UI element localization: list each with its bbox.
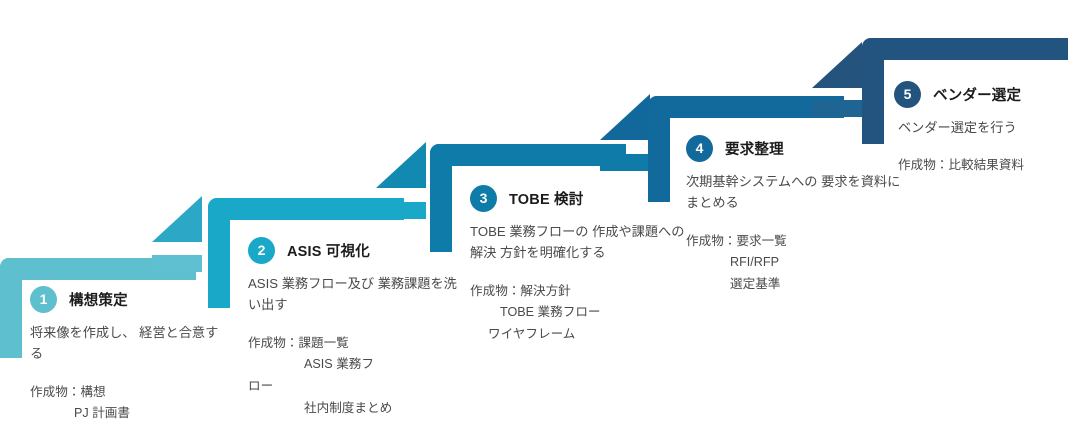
step-number-badge-5: 5 [894, 81, 921, 108]
deliverable-line: 選定基準 [730, 274, 780, 296]
bracket-stem [862, 38, 884, 144]
step-title-4: 要求整理 [725, 138, 784, 159]
process-step-5[interactable]: 5 ベンダー選定 ベンダー選定を行う 作成物：比較結果資料 [862, 38, 1082, 238]
deliverable-line: ロー [248, 379, 273, 393]
process-step-1[interactable]: 1 構想策定 将来像を作成し、 経営と合意する 作成物：構想PJ 計画書 [0, 258, 230, 448]
bracket-bar [0, 258, 196, 280]
bracket-bar [862, 38, 1068, 60]
process-step-2[interactable]: 2 ASIS 可視化 ASIS 業務フロー及び 業務課題を洗い出す 作成物：課題… [208, 198, 448, 448]
step-description-1: 将来像を作成し、 経営と合意する [30, 322, 230, 365]
step-number-badge-3: 3 [470, 185, 497, 212]
deliverable-line: ワイヤフレーム [488, 324, 575, 346]
bracket-bar [648, 96, 844, 118]
step-content-1: 1 構想策定 将来像を作成し、 経営と合意する 作成物：構想PJ 計画書 [30, 285, 230, 425]
deliverable-line: ASIS 業務フ [304, 354, 374, 376]
process-step-3[interactable]: 3 TOBE 検討 TOBE 業務フローの 作成や課題への解決 方針を明確化する… [430, 144, 675, 414]
deliverable-line: 作成物：要求一覧 [686, 234, 787, 248]
step-content-5: 5 ベンダー選定 ベンダー選定を行う 作成物：比較結果資料 [894, 80, 1082, 177]
deliverable-line: PJ 計画書 [74, 403, 130, 425]
arrow-head-icon [152, 196, 202, 242]
step-title-row-1: 1 構想策定 [30, 285, 230, 313]
deliverable-line: 作成物：比較結果資料 [898, 158, 1024, 172]
step-deliverables-1: 作成物：構想PJ 計画書 [30, 382, 230, 425]
deliverable-line: TOBE 業務フロー [500, 302, 601, 324]
deliverable-line: 作成物：解決方針 [470, 284, 571, 298]
step-deliverables-2: 作成物：課題一覧ASIS 業務フロー社内制度まとめ [248, 333, 458, 420]
bracket-stem [648, 96, 670, 202]
step-content-2: 2 ASIS 可視化 ASIS 業務フロー及び 業務課題を洗い出す 作成物：課題… [248, 236, 458, 419]
step-deliverables-5: 作成物：比較結果資料 [898, 155, 1082, 177]
process-step-4[interactable]: 4 要求整理 次期基幹システムへの 要求を資料にまとめる 作成物：要求一覧RFI… [648, 96, 893, 356]
step-title-5: ベンダー選定 [933, 84, 1021, 105]
step-number-badge-4: 4 [686, 135, 713, 162]
step-number-badge-2: 2 [248, 237, 275, 264]
deliverable-line: 作成物：課題一覧 [248, 336, 349, 350]
deliverable-line: 作成物：構想 [30, 385, 106, 399]
step-deliverables-4: 作成物：要求一覧RFI/RFP選定基準 [686, 231, 904, 296]
arrow-head-icon [376, 142, 426, 188]
bracket-stem [430, 144, 452, 252]
step-description-2: ASIS 業務フロー及び 業務課題を洗い出す [248, 273, 458, 316]
bracket-bar [208, 198, 404, 220]
step-title-row-5: 5 ベンダー選定 [894, 80, 1082, 108]
step-title-1: 構想策定 [69, 289, 128, 310]
bracket-stem [208, 198, 230, 308]
deliverable-line: RFI/RFP [730, 252, 779, 274]
arrow-head-icon [600, 94, 650, 140]
bracket-stem [0, 258, 22, 358]
step-number-badge-1: 1 [30, 286, 57, 313]
deliverable-line: 社内制度まとめ [304, 398, 392, 420]
arrow-head-icon [812, 42, 862, 88]
step-title-row-2: 2 ASIS 可視化 [248, 236, 458, 264]
step-description-5: ベンダー選定を行う [898, 117, 1082, 138]
step-title-3: TOBE 検討 [509, 188, 583, 209]
bracket-bar [430, 144, 626, 166]
step-title-2: ASIS 可視化 [287, 240, 370, 261]
process-diagram: 1 構想策定 将来像を作成し、 経営と合意する 作成物：構想PJ 計画書 2 A… [0, 0, 1082, 448]
